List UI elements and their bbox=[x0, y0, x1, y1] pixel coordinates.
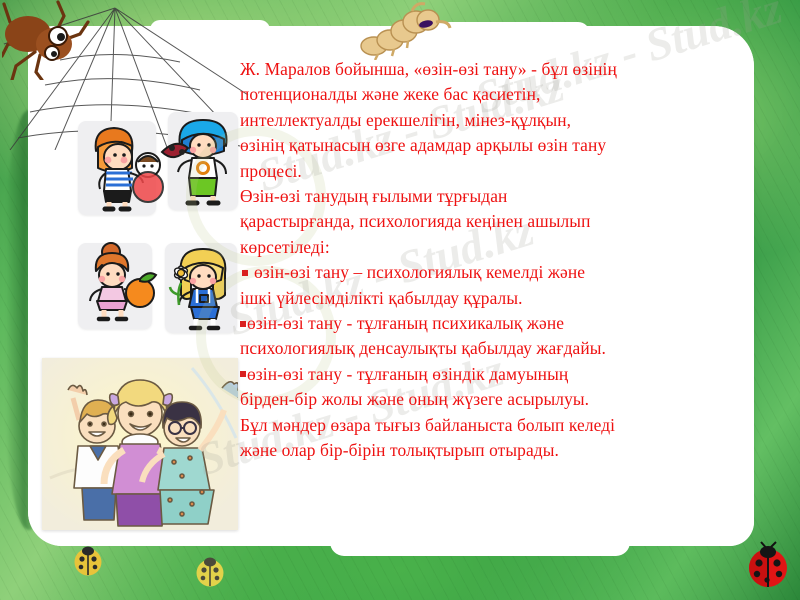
slide-text-body: Ж. Маралов бойынша, «өзін-өзі тану» - бұ… bbox=[240, 57, 760, 464]
closing-line: Бұл мәндер өзара тығыз байланыста болып … bbox=[240, 413, 760, 438]
girl-with-flower-icon bbox=[165, 243, 237, 333]
girl-with-doll-icon bbox=[78, 121, 156, 215]
paragraph-line: процесі. bbox=[240, 159, 760, 184]
card-girl-with-flower[interactable] bbox=[165, 243, 237, 333]
bullet-text: өзін-өзі тану - тұлғаның өзіндік дамуыны… bbox=[247, 364, 568, 384]
paragraph-line: қарастырғанда, психологияда кеңінен ашыл… bbox=[240, 209, 760, 234]
bullet-item-2-cont: психологиялық денсаулықты қабылдау жағда… bbox=[240, 336, 760, 361]
bullet-text: өзін-өзі тану - тұлғаның психикалық және bbox=[247, 313, 564, 333]
paragraph-line: потенционалды және жеке бас қасиетін, bbox=[240, 82, 760, 107]
bullet-item-1: өзін-өзі тану – психологиялық кемелді жә… bbox=[240, 260, 760, 285]
doll-toy bbox=[133, 153, 163, 202]
bullet-item-3: өзін-өзі тану - тұлғаның өзіндік дамуыны… bbox=[240, 362, 760, 387]
slide-canvas: Stud.kz - Stud.kz Stud.kz - Stud.kz Stud… bbox=[0, 0, 800, 600]
paragraph-line: Ж. Маралов бойынша, «өзін-өзі тану» - бұ… bbox=[240, 57, 760, 82]
bullet-item-1-cont: ішкі үйлесімділікті қабылдау құралы. bbox=[240, 286, 760, 311]
caterpillar-icon bbox=[352, 2, 462, 60]
boy-with-skateboard-icon bbox=[168, 112, 238, 210]
card-boy-with-skateboard[interactable] bbox=[168, 112, 238, 210]
paper-notch-3 bbox=[330, 530, 630, 556]
teacher-with-children-photo[interactable] bbox=[42, 358, 238, 530]
girl-with-orange-icon bbox=[78, 243, 152, 329]
bullet-item-3-cont: бірден-бір жолы және оның жүзеге асырылу… bbox=[240, 387, 760, 412]
bullet-square-icon bbox=[242, 270, 248, 276]
paragraph-line: интеллектуалды ерекшелігін, мінез-құлқын… bbox=[240, 108, 760, 133]
paragraph-line: Өзін-өзі танудың ғылыми тұрғыдан bbox=[240, 184, 760, 209]
orange-fruit bbox=[126, 273, 156, 307]
card-girl-with-doll[interactable] bbox=[78, 121, 156, 215]
paragraph-line: көрсетіледі: bbox=[240, 235, 760, 260]
closing-line: және олар бір-бірін толықтырып отырады. bbox=[240, 438, 760, 463]
paragraph-line: өзінің қатынасын өзге адамдар арқылы өзі… bbox=[240, 133, 760, 158]
bullet-text: өзін-өзі тану – психологиялық кемелді жә… bbox=[254, 262, 585, 282]
bullet-square-icon bbox=[240, 321, 246, 327]
ladybug-yellow-2-icon bbox=[192, 554, 228, 590]
spider-icon bbox=[2, 0, 107, 80]
card-girl-with-orange[interactable] bbox=[78, 243, 152, 329]
bullet-item-2: өзін-өзі тану - тұлғаның психикалық және bbox=[240, 311, 760, 336]
bullet-square-icon bbox=[240, 371, 246, 377]
ladybug-red-icon bbox=[742, 540, 794, 592]
ladybug-yellow-1-icon bbox=[70, 543, 106, 579]
